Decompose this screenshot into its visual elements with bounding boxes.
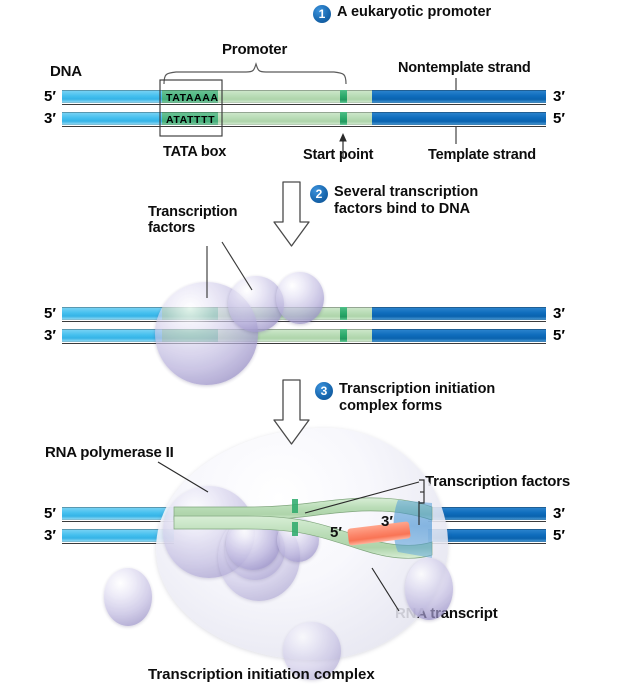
panel3-left-bottom-prime: 3′ [44,527,56,544]
panel-initiation-complex: RNA polymerase II Transcription factors … [0,380,623,693]
promoter-top-strand [218,90,340,103]
promoter-bottom-strand [218,112,340,125]
panel2-dna-bottom-upstream [62,329,162,342]
rna-three-prime: 3′ [381,513,393,530]
panel2-start-point-top [340,307,347,320]
strand-divider-bottom [62,126,546,127]
figure-canvas: 1 A eukaryotic promoter DNA Promoter TAT… [0,0,623,693]
panel3-divider-top-left [62,521,174,522]
dna-top-upstream [62,90,162,103]
panel2-transcription-factors-label: Transcription factors [148,204,278,236]
panel2-right-bottom-prime: 5′ [553,327,565,344]
transcription-factor-sphere-top-a [226,516,280,570]
tata-top-sequence: TATAAAA [166,92,219,104]
transcription-factor-sphere-top-b [277,518,319,562]
panel2-dna-bottom-downstream [372,329,546,342]
dna-label: DNA [50,64,82,81]
panel2-dna-top-upstream [62,307,162,320]
transcription-factor-sphere-right [405,558,453,620]
panel3-left-top-prime: 5′ [44,505,56,522]
tata-bottom-sequence: ATATTTT [166,114,215,126]
strand-divider-top [62,104,546,105]
panel2-promoter-top-b [347,307,372,320]
start-point-bottom-marker [340,112,347,125]
complex-caption: Transcription initiation complex [148,666,375,683]
dna-bottom-downstream [372,112,546,125]
panel-eukaryotic-promoter: DNA Promoter TATAAAA ATATTTT 5′ 3′ 3′ 5′… [0,0,623,170]
panel1-left-bottom-prime: 3′ [44,110,56,127]
panel2-dna-top-downstream [372,307,546,320]
panel3-dna-top-left [62,507,174,520]
transcription-factor-sphere-small [276,272,324,324]
dna-bottom-upstream [62,112,162,125]
dna-top-downstream [372,90,546,103]
panel1-right-top-prime: 3′ [553,88,565,105]
nontemplate-strand-label: Nontemplate strand [398,60,531,76]
promoter-bottom-strand-b [347,112,372,125]
panel2-promoter-bottom-b [347,329,372,342]
start-point-label: Start point [303,147,373,163]
tata-box-label: TATA box [163,144,226,160]
panel1-left-top-prime: 5′ [44,88,56,105]
panel1-right-bottom-prime: 5′ [553,110,565,127]
promoter-top-strand-b [347,90,372,103]
panel3-right-bottom-prime: 5′ [553,527,565,544]
panel3-dna-top-right [428,507,546,520]
panel2-left-top-prime: 5′ [44,305,56,322]
panel2-strand-divider-bottom [62,343,546,344]
panel3-transcription-factors-label: Transcription factors [425,474,570,491]
panel2-left-bottom-prime: 3′ [44,327,56,344]
panel3-right-top-prime: 3′ [553,505,565,522]
rna-five-prime: 5′ [330,524,342,541]
panel-transcription-factors-bind: Transcription factors 5′ 3′ 3′ 5′ [0,180,623,370]
transcription-factor-sphere-mid [228,276,284,332]
start-point-top-marker [340,90,347,103]
promoter-label: Promoter [222,42,287,59]
panel2-right-top-prime: 3′ [553,305,565,322]
template-strand-label: Template strand [428,147,536,163]
panel2-start-point-bottom [340,329,347,342]
transcription-factor-sphere-left [104,568,152,626]
rna-polymerase-label: RNA polymerase II [45,445,174,462]
